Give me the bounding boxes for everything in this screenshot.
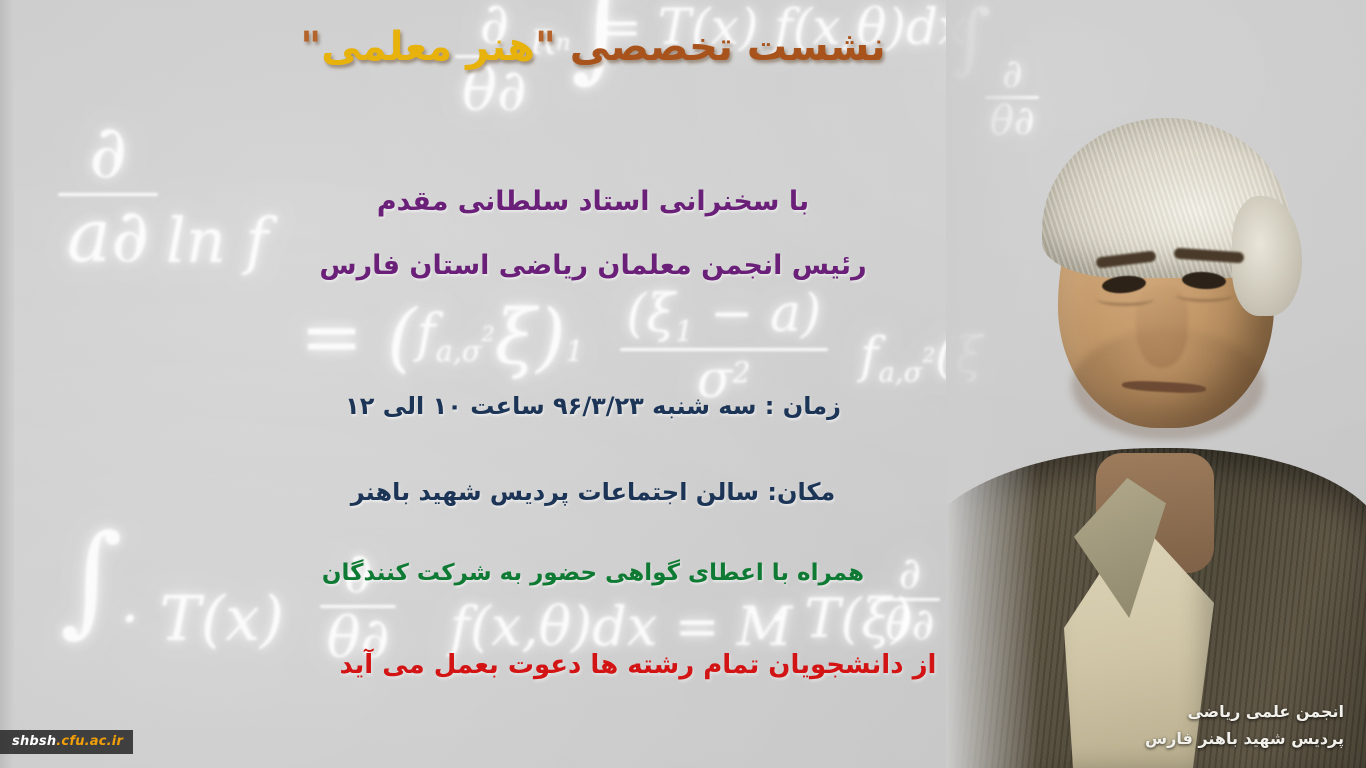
formula-numerator: (ξ1 − a) <box>620 288 828 346</box>
speaker-line-1: با سخنرانی استاد سلطانی مقدم <box>0 186 1366 217</box>
signature-line-2: پردیس شهید باهنر فارس <box>1145 726 1344 752</box>
title-highlight: هنر معلمی <box>321 24 535 70</box>
formula-f: f <box>417 304 436 364</box>
formula-xi-subscript: 1 <box>566 334 584 368</box>
formula-denominator: ∂θ <box>880 603 940 647</box>
formula-f-subscript: a,σ <box>879 357 923 389</box>
formula-f: f <box>860 326 879 384</box>
formula-xi-close: ) = <box>300 300 417 375</box>
event-time: زمان : سه شنبه ۹۶/۳/۲۳ ساعت ۱۰ الی ۱۲ <box>0 392 1366 420</box>
event-poster: ∂ ∂θ ∫Rn T(x) f(x,θ)dx = ∫ ∂ ∂θ ∂ ∂a ln … <box>0 0 1366 768</box>
formula-f-superscript: 2 <box>481 322 494 346</box>
event-place: مکان: سالن اجتماعات پردیس شهید باهنر <box>0 478 1366 506</box>
formula-numerator: ∂ <box>80 115 136 189</box>
title-open-quote: " <box>535 24 556 70</box>
certificate-note: همراه با اعطای گواهی حضور به شرکت کنندگا… <box>0 560 1366 586</box>
poster-title: نشست تخصصی "هنر معلمی" <box>0 24 1366 70</box>
formula-num-sub: 1 <box>675 314 693 348</box>
formula-f-superscript: 2 <box>922 343 935 367</box>
portrait-eyebag-right <box>1176 288 1234 302</box>
formula-bottom-tail: f(x,θ)dx = M <box>450 600 792 654</box>
title-close-quote: " <box>300 24 321 70</box>
signature-line-1: انجمن علمی ریاضی <box>1145 699 1344 725</box>
formula-den-sup: 2 <box>732 355 750 389</box>
organizer-signature: انجمن علمی ریاضی پردیس شهید باهنر فارس <box>1145 699 1344 752</box>
formula-density-lead: fa,σ2(ξ1) = <box>300 300 584 375</box>
formula-f-subscript: a,σ <box>436 334 482 368</box>
formula-xi-arg: (ξ <box>495 300 566 375</box>
portrait-eyebag-left <box>1096 292 1154 306</box>
formula-density-fraction: (ξ1 − a) σ2 <box>620 288 828 406</box>
watermark-name: shbsh <box>12 734 56 749</box>
formula-bottom-body: T(x) · <box>120 588 284 650</box>
title-lead: نشست تخصصی <box>570 24 886 70</box>
watermark-domain: .cfu.ac.ir <box>56 734 123 749</box>
site-watermark: shbsh.cfu.ac.ir <box>0 730 133 754</box>
invitation-note: از دانشجویان تمام رشته ها دعوت بعمل می آ… <box>0 650 1366 680</box>
speaker-line-2: رئیس انجمن معلمان ریاضی استان فارس <box>0 250 1366 281</box>
